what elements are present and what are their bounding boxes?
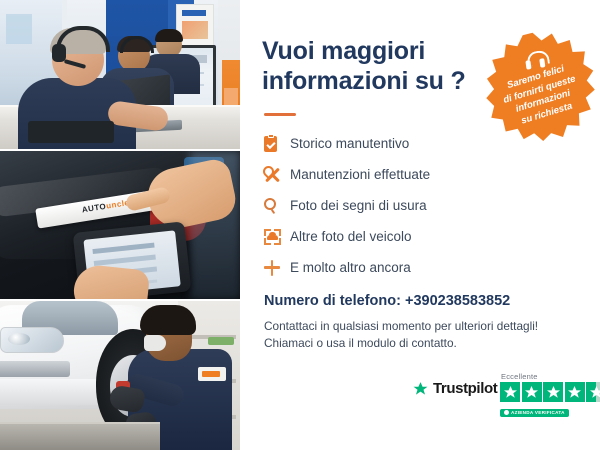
list-item-label: Manutenzioni effettuate — [290, 167, 430, 182]
auto-brand-mark: AUTOuncle — [81, 198, 130, 214]
list-item: Altre foto del veicolo — [264, 221, 524, 252]
title-divider — [264, 113, 296, 116]
star-1 — [500, 382, 520, 402]
badge-text: Saremo felici di fornirti queste informa… — [488, 58, 594, 134]
contact-line-2: Chiamaci o usa il modulo di contatto. — [264, 335, 554, 352]
page-title: Vuoi maggiori informazioni su ? — [262, 36, 477, 96]
phone-number[interactable]: Numero di telefono: +390238583852 — [264, 293, 510, 309]
trustpilot-brand-name: Trustpilot — [433, 380, 497, 397]
list-item-label: Altre foto del veicolo — [290, 229, 412, 244]
star-2 — [522, 382, 542, 402]
contact-instructions: Contattaci in qualsiasi momento per ulte… — [264, 318, 554, 352]
headset-icon — [525, 50, 547, 70]
list-item: Foto dei segni di usura — [264, 190, 524, 221]
tools-cross-icon — [264, 167, 290, 183]
list-item-label: E molto altro ancora — [290, 260, 411, 275]
plus-icon — [264, 260, 290, 276]
paint-thickness-measure-photo: AUTOuncle — [0, 151, 240, 299]
advert-banner: AUTOuncle — [0, 0, 600, 450]
contact-line-1: Contattaci in qualsiasi momento per ulte… — [264, 318, 554, 335]
star-4 — [565, 382, 585, 402]
call-center-agents-photo — [0, 0, 240, 149]
trustpilot-widget[interactable]: Trustpilot Eccellente AZIENDA VERIFICATA — [412, 372, 600, 418]
content-panel: Vuoi maggiori informazioni su ? Saremo f… — [240, 0, 600, 450]
feature-list: Storico manutentivo Manutenzioni effettu… — [264, 128, 524, 283]
list-item-label: Storico manutentivo — [290, 136, 409, 151]
verified-company-badge: AZIENDA VERIFICATA — [500, 409, 569, 417]
star-5 — [586, 382, 600, 402]
trustpilot-star-rating — [500, 382, 600, 402]
car-scan-icon — [264, 229, 290, 245]
mechanic-wheel-inspection-photo — [0, 301, 240, 450]
trustpilot-logo: Trustpilot — [412, 380, 497, 397]
magnifier-icon — [264, 198, 290, 214]
photo-column: AUTOuncle — [0, 0, 240, 450]
list-item: Manutenzioni effettuate — [264, 159, 524, 190]
star-3 — [543, 382, 563, 402]
check-icon — [504, 410, 509, 415]
trustpilot-rating-label: Eccellente — [501, 372, 600, 381]
clipboard-check-icon — [264, 136, 290, 152]
list-item: E molto altro ancora — [264, 252, 524, 283]
list-item-label: Foto dei segni di usura — [290, 198, 427, 213]
list-item: Storico manutentivo — [264, 128, 524, 159]
trustpilot-star-icon — [412, 381, 429, 397]
verified-label: AZIENDA VERIFICATA — [511, 410, 565, 415]
